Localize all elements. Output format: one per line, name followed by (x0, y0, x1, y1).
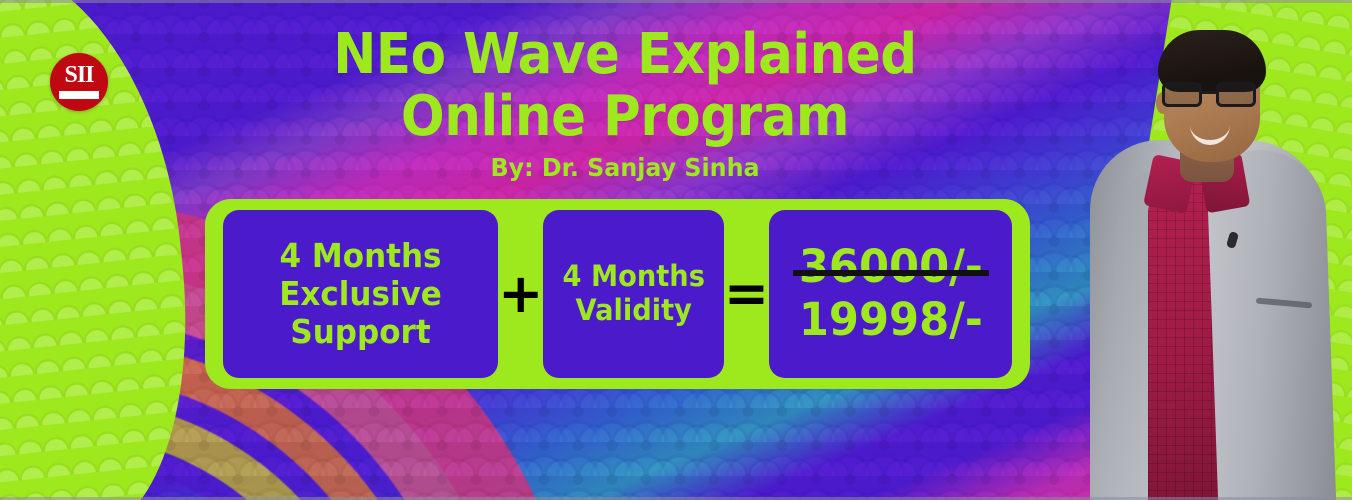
support-line-3: Support (279, 313, 442, 351)
validity-line-2: Validity (562, 294, 704, 328)
offer-strip: 4 Months Exclusive Support + 4 Months Va… (205, 199, 1030, 389)
presenter-byline: By: Dr. Sanjay Sinha (212, 154, 1039, 182)
glasses-bridge (1202, 91, 1216, 94)
offer-card-support: 4 Months Exclusive Support (223, 210, 498, 378)
presenter-glasses-icon (1160, 82, 1264, 108)
old-price: 36000/- (797, 243, 985, 292)
glasses-lens-right (1216, 82, 1256, 107)
equals-operator-icon: = (724, 267, 769, 321)
logo-text: SII (59, 63, 99, 87)
glasses-lens-left (1162, 82, 1202, 107)
promo-banner: SII NEo Wave Explained Online Program By… (0, 0, 1352, 500)
new-price: 19998/- (797, 296, 985, 345)
banner-top-edge (0, 0, 1352, 3)
presenter-photo (1052, 0, 1352, 500)
offer-card-price: 36000/- 19998/- (769, 210, 1012, 378)
old-price-row: 36000/- (797, 243, 985, 292)
price-stack: 36000/- 19998/- (797, 243, 985, 344)
validity-line-1: 4 Months (562, 260, 704, 294)
support-line-2: Exclusive (279, 275, 442, 313)
support-card-text: 4 Months Exclusive Support (279, 237, 442, 352)
plus-operator-icon: + (498, 267, 543, 321)
logo-mark-icon: SII (59, 65, 99, 99)
brand-logo[interactable]: SII (50, 53, 108, 111)
logo-underbar (59, 91, 99, 99)
title-line-1: NEo Wave Explained (225, 24, 1025, 86)
headline-block: NEo Wave Explained Online Program By: Dr… (190, 24, 1060, 182)
validity-card-text: 4 Months Validity (562, 260, 704, 327)
offer-card-validity: 4 Months Validity (543, 210, 723, 378)
title-line-2: Online Program (225, 86, 1025, 148)
support-line-1: 4 Months (279, 237, 442, 275)
